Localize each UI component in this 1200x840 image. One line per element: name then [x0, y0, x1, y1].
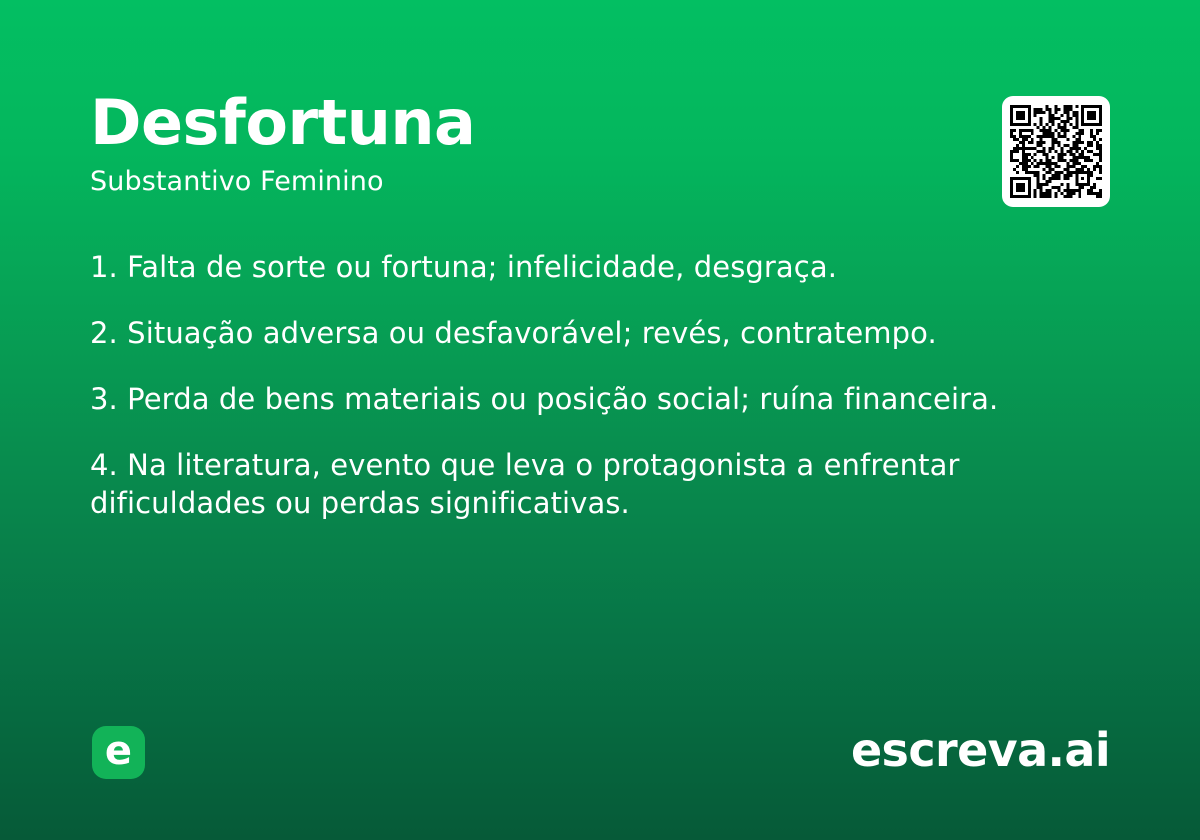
qr-code-icon	[1010, 105, 1102, 198]
definition-item: 2. Situação adversa ou desfavorável; rev…	[90, 314, 1090, 352]
definition-item: 3. Perda de bens materiais ou posição so…	[90, 380, 1090, 418]
definition-item: 4. Na literatura, evento que leva o prot…	[90, 446, 1090, 522]
page-title: Desfortuna	[90, 88, 970, 158]
logo-letter: e	[105, 731, 132, 771]
definition-item: 1. Falta de sorte ou fortuna; infelicida…	[90, 248, 1090, 286]
definition-list: 1. Falta de sorte ou fortuna; infelicida…	[90, 248, 1090, 522]
brand-wordmark: escreva.ai	[851, 722, 1110, 778]
logo-mark: e	[92, 726, 145, 779]
card-header: Desfortuna Substantivo Feminino	[90, 88, 970, 199]
dictionary-card: Desfortuna Substantivo Feminino 1. Falta…	[0, 0, 1200, 840]
word-class-label: Substantivo Feminino	[90, 158, 970, 199]
qr-code-panel[interactable]	[1002, 96, 1110, 207]
